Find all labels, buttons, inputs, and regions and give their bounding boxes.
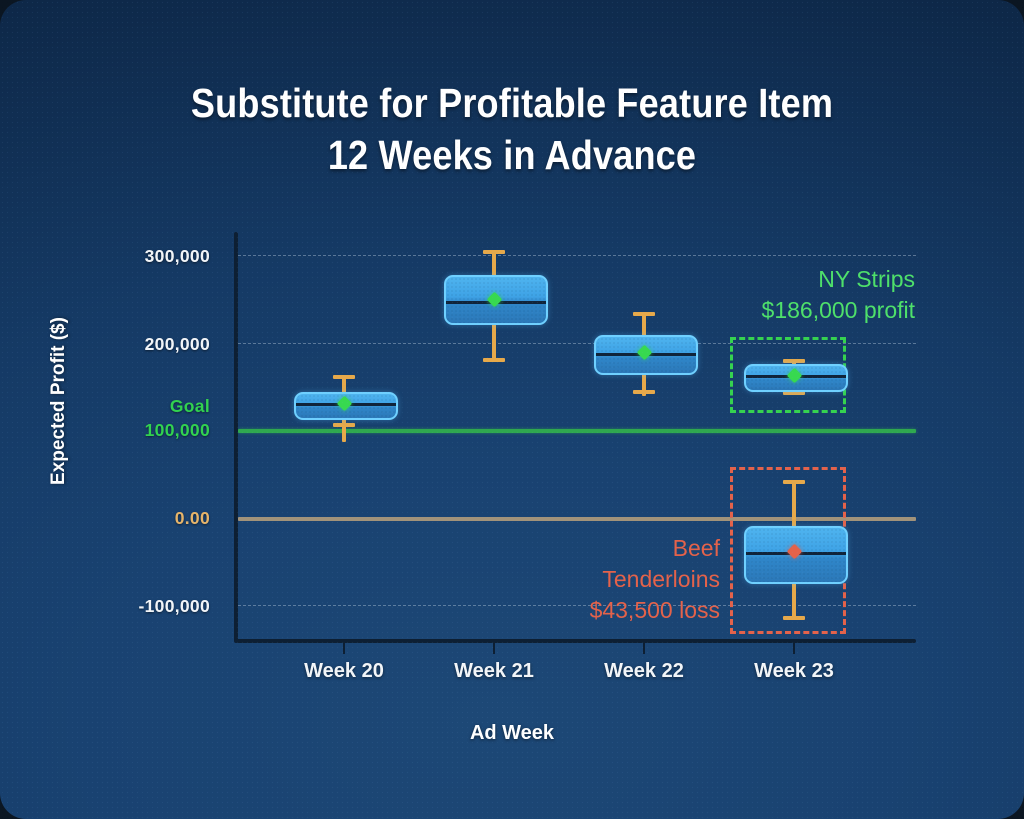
x-tick-mark-week-23 xyxy=(793,643,795,654)
boxplot-week-23-ny-strips[interactable] xyxy=(744,356,844,398)
goal-label: Goal xyxy=(60,396,210,417)
x-tick-mark-week-20 xyxy=(343,643,345,654)
whisker-cap-high xyxy=(783,480,805,484)
gridline-300000 xyxy=(238,255,916,256)
slide-card: Substitute for Profitable Feature Item 1… xyxy=(0,0,1024,819)
slide-root: Substitute for Profitable Feature Item 1… xyxy=(0,0,1024,819)
y-tick-label-200000: 200,000 xyxy=(60,334,210,355)
whisker-cap-low xyxy=(483,358,505,362)
beef-tenderloins-callout-line-1: Beef xyxy=(370,533,720,564)
beef-tenderloins-callout: Beef Tenderloins $43,500 loss xyxy=(370,533,720,626)
boxplot-chart: 300,000 200,000 Goal 100,000 0.00 -100,0… xyxy=(0,0,1024,819)
whisker-cap-high xyxy=(333,375,355,379)
y-axis-title: Expected Profit ($) xyxy=(48,276,70,526)
x-tick-label-week-23: Week 23 xyxy=(704,660,884,683)
y-tick-label-0: 0.00 xyxy=(60,508,210,529)
y-tick-label-100000: 100,000 xyxy=(60,420,210,441)
boxplot-week-20[interactable] xyxy=(294,360,394,440)
boxplot-week-21[interactable] xyxy=(444,246,544,372)
ny-strips-callout-line-1: NY Strips xyxy=(540,264,915,295)
x-axis-spine xyxy=(234,639,916,643)
ny-strips-callout: NY Strips $186,000 profit xyxy=(540,264,915,326)
beef-tenderloins-callout-line-2: Tenderloins xyxy=(370,564,720,595)
beef-tenderloins-callout-line-3: $43,500 loss xyxy=(370,595,720,626)
y-tick-label-300000: 300,000 xyxy=(60,246,210,267)
whisker-cap-low xyxy=(333,423,355,427)
ny-strips-callout-line-2: $186,000 profit xyxy=(540,295,915,326)
y-tick-label-minus-100000: -100,000 xyxy=(60,596,210,617)
whisker-cap-low xyxy=(633,390,655,394)
x-tick-mark-week-21 xyxy=(493,643,495,654)
boxplot-week-23-beef-tenderloins[interactable] xyxy=(744,474,844,626)
whisker-cap-high xyxy=(483,250,505,254)
whisker-cap-high xyxy=(783,359,805,363)
y-axis-spine xyxy=(234,232,238,642)
x-tick-mark-week-22 xyxy=(643,643,645,654)
whisker-cap-low xyxy=(783,616,805,620)
x-axis-title: Ad Week xyxy=(0,722,1024,745)
